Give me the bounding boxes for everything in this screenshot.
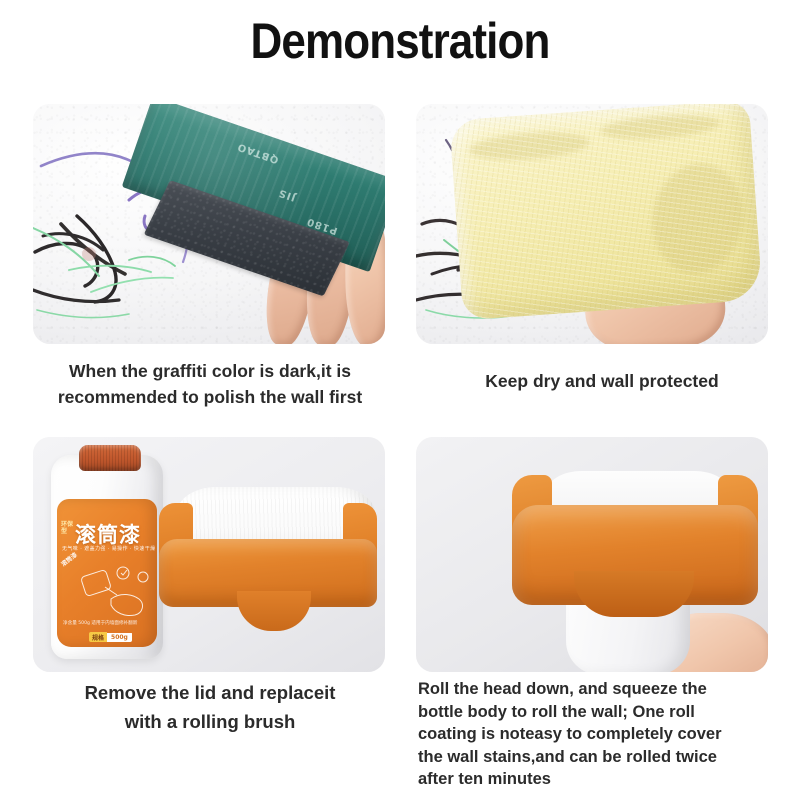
panel-rolling [416,437,768,672]
bottle-cap [79,445,141,471]
caption-line: after ten minutes [418,768,790,791]
label-illustration [61,555,155,625]
panel-sanding: QBTAO JIS P180 [33,104,385,344]
caption-panel-rolling: Roll the head down, and squeeze the bott… [418,678,790,791]
caption-line: bottle body to roll the wall; One roll [418,701,790,724]
caption-panel-sanding: When the graffiti color is dark,it is re… [16,358,404,410]
sponge-print-text: JIS [277,186,297,202]
panel-wipe [416,104,768,344]
roller-neck [574,571,694,617]
wipe-scene [416,104,768,344]
badge-left-text: 规格 [89,632,107,642]
rolling-scene [416,437,768,672]
caption-line: Remove the lid and replaceit [16,678,404,707]
paint-bottle: 环保型 滚筒漆 无气味 · 遮盖力强 · 易操作 · 快速干燥 [51,455,163,659]
caption-line: Roll the head down, and squeeze the [418,678,790,701]
microfiber-cloth [449,104,762,320]
roller-neck [237,591,311,631]
page-title: Demonstration [48,12,752,70]
sanding-scene: QBTAO JIS P180 [33,104,385,344]
cloth-fold [644,157,752,281]
caption-line: with a rolling brush [16,707,404,736]
caption-line: recommended to polish the wall first [16,384,404,410]
panel-bottle-roller: 环保型 滚筒漆 无气味 · 遮盖力强 · 易操作 · 快速干燥 [33,437,385,672]
roller-head [159,487,377,647]
caption-line: When the graffiti color is dark,it is [16,358,404,384]
badge-right-text: 500g [107,633,132,642]
label-badge: 规格 500g [89,632,132,642]
caption-panel-bottle-roller: Remove the lid and replaceit with a roll… [16,678,404,736]
product-label: 环保型 滚筒漆 无气味 · 遮盖力强 · 易操作 · 快速干燥 [57,499,157,647]
caption-line: coating is noteasy to completely cover [418,723,790,746]
caption-panel-wipe: Keep dry and wall protected [408,368,796,394]
caption-line: Keep dry and wall protected [408,368,796,394]
label-foot-text: 净含量 500g 适用于内墙面修补翻新 [63,621,153,627]
caption-line: the wall stains,and can be rolled twice [418,746,790,769]
bottle-roller-scene: 环保型 滚筒漆 无气味 · 遮盖力强 · 易操作 · 快速干燥 [33,437,385,672]
roller-head [512,471,758,621]
label-side-text: 环保型 [61,521,75,535]
cloth-fold [600,112,721,142]
demonstration-page: Demonstration [0,0,800,800]
sponge-print-text: QBTAO [236,140,281,165]
cloth-fold [469,129,591,163]
